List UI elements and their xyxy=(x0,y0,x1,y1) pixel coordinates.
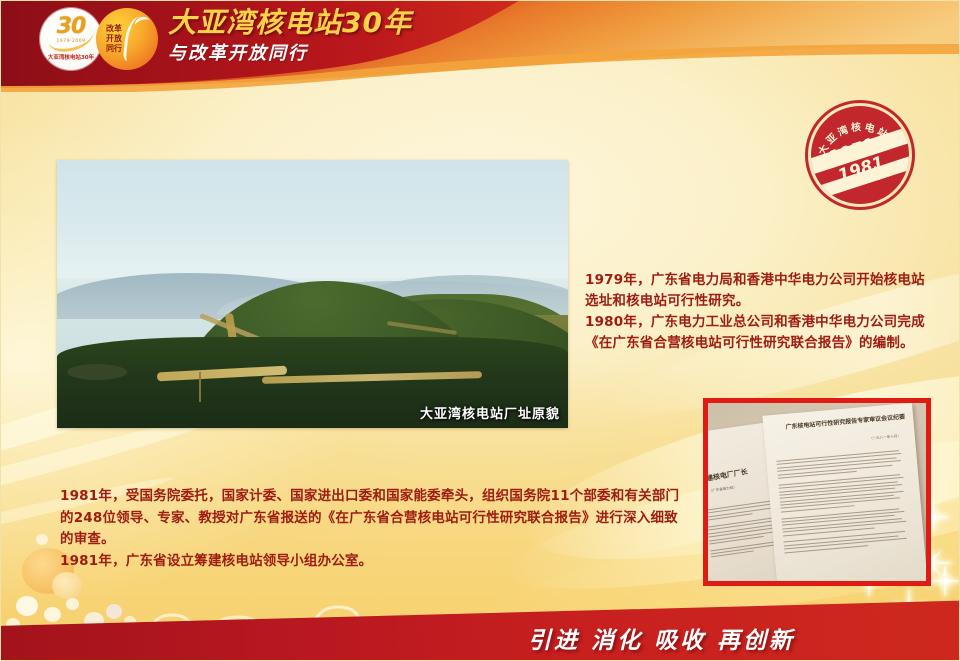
document-left-subtitle: （广东省电力局） xyxy=(709,485,737,494)
banner-title-block: 大亚湾核电站30年 与改革开放同行 xyxy=(168,6,412,66)
history-text-right: 1979年，广东省电力局和香港中华电力公司开始核电站选址和核电站可行性研究。 1… xyxy=(585,270,937,354)
reform-logo-line2: 开放 xyxy=(105,34,123,44)
history-right-paragraph-1: 1979年，广东省电力局和香港中华电力公司开始核电站选址和核电站可行性研究。 xyxy=(585,270,937,312)
reform-logo: 改革 开放 同行 xyxy=(96,8,158,70)
footer-red-stripe xyxy=(0,599,960,661)
history-bottom-paragraph-1: 1981年，受国务院委托，国家计委、国家进出口委和国家能委牵头，组织国务院11个… xyxy=(60,486,680,551)
anniversary-logo: 30 1979-2009 大亚湾核电站30年 xyxy=(40,8,102,70)
reform-logo-line3: 同行 xyxy=(105,44,123,54)
photo-pole xyxy=(199,372,201,402)
reform-logo-text: 改革 开放 同行 xyxy=(105,24,123,54)
document-left-title: 筹建核电厂厂长 xyxy=(703,467,748,485)
poster-root: 大亚湾核电站30年 与改革开放同行 30 1979-2009 大亚湾核电站30年… xyxy=(0,0,960,661)
anniversary-logo-years: 1979-2009 xyxy=(40,39,102,44)
history-bottom-paragraph-2: 1981年，广东省设立筹建核电站领导小组办公室。 xyxy=(60,551,680,573)
document-right-body-lines xyxy=(776,450,912,556)
anniversary-logo-number: 30 xyxy=(40,14,102,39)
document-right-date: （一九八一年十月） xyxy=(869,434,901,442)
history-text-bottom: 1981年，受国务院委托，国家计委、国家进出口委和国家能委牵头，组织国务院11个… xyxy=(60,486,680,572)
reform-logo-line1: 改革 xyxy=(105,24,123,34)
banner-title: 大亚湾核电站30年 xyxy=(168,6,412,40)
site-photo-caption: 大亚湾核电站厂址原貌 xyxy=(420,403,560,422)
document-photo: 筹建核电厂厂长 （广东省电力局） 广东核电站可行性研究报告专家审议会议纪要 （一… xyxy=(703,398,931,586)
footer-band: 引进 消化 吸收 再创新 xyxy=(0,599,960,661)
anniversary-seal-stamp: 大亚湾核电站 1979-1981 30年 xyxy=(805,100,915,210)
document-right-title: 广东核电站可行性研究报告专家审议会议纪要 xyxy=(773,413,905,432)
header-banner: 大亚湾核电站30年 与改革开放同行 30 1979-2009 大亚湾核电站30年… xyxy=(0,0,960,92)
anniversary-logo-caption: 大亚湾核电站30年 xyxy=(42,52,99,60)
banner-subtitle: 与改革开放同行 xyxy=(168,42,412,66)
site-photo: 大亚湾核电站厂址原貌 xyxy=(57,160,568,428)
document-sheet-right: 广东核电站可行性研究报告专家审议会议纪要 （一九八一年十月） xyxy=(762,403,927,586)
history-right-paragraph-2: 1980年，广东电力工业总公司和香港中华电力公司完成《在广东省合营核电站可行性研… xyxy=(585,312,937,354)
photo-rocks xyxy=(67,364,127,380)
footer-slogan: 引进 消化 吸收 再创新 xyxy=(528,621,795,655)
